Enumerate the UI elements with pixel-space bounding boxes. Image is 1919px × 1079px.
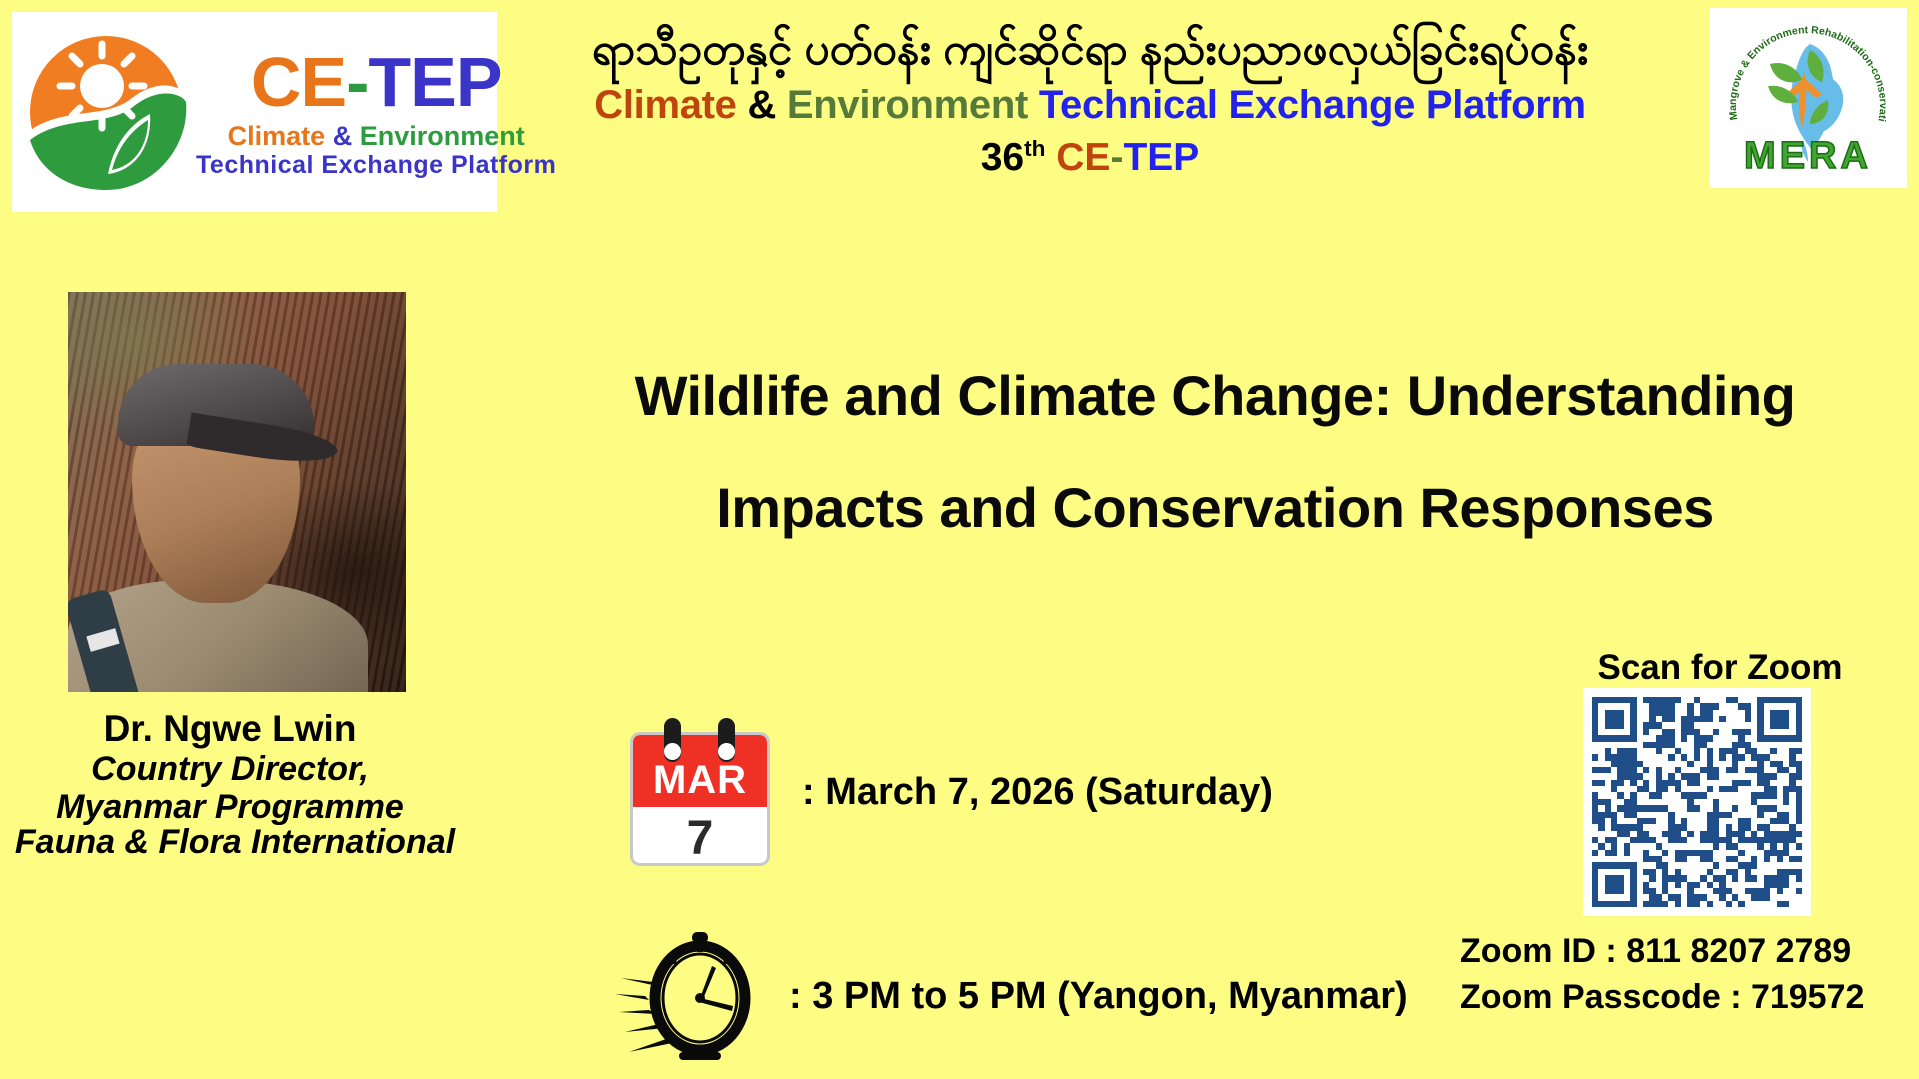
cetep-tagline-climate: Climate: [228, 121, 326, 151]
cetep-letters-tep: TEP: [368, 43, 501, 121]
talk-title-line2: Impacts and Conservation Responses: [520, 452, 1910, 564]
calendar-ring-hole-left: [664, 743, 681, 760]
calendar-month: MAR: [633, 735, 767, 807]
mera-logo-inner: Mangrove & Environment Rehabilitation-co…: [1718, 12, 1898, 184]
edition-number: 36: [981, 136, 1024, 179]
calendar-body: MAR 7: [630, 732, 770, 866]
edition-tep: TEP: [1123, 136, 1199, 179]
date-text: : March 7, 2026 (Saturday): [802, 771, 1273, 814]
edition-suffix: th: [1024, 136, 1045, 161]
english-title-platform: Technical Exchange Platform: [1028, 83, 1586, 127]
poster-canvas: CE-TEP Climate & Environment Technical E…: [0, 0, 1919, 1079]
mera-logo: Mangrove & Environment Rehabilitation-co…: [1709, 8, 1907, 188]
edition-dash: -: [1110, 136, 1123, 179]
mera-wordmark: MERA: [1718, 135, 1898, 178]
english-title-climate: Climate: [594, 83, 736, 127]
speaker-role-line2: Myanmar Programme: [56, 788, 404, 826]
zoom-passcode: Zoom Passcode : 719572: [1460, 978, 1910, 1017]
burmese-title: ရာသီဥတုနှင့် ပတ်ဝန်း ကျင်ဆိုင်ရာ နည်းပညာ…: [500, 22, 1680, 77]
talk-title-line1: Wildlife and Climate Change: Understandi…: [520, 340, 1910, 452]
cetep-letters-ce: CE: [251, 43, 346, 121]
english-title: Climate & Environment Technical Exchange…: [500, 83, 1680, 128]
cetep-logo-mark: [22, 28, 190, 196]
time-row: : 3 PM to 5 PM (Yangon, Myanmar): [615, 930, 1408, 1062]
cetep-logo: CE-TEP Climate & Environment Technical E…: [12, 12, 497, 212]
edition-ce: CE: [1056, 136, 1110, 179]
qr-code-grid: [1592, 697, 1802, 907]
speaker-name: Dr. Ngwe Lwin: [0, 708, 460, 750]
header-text-block: ရာသီဥတုနှင့် ပတ်ဝန်း ကျင်ဆိုင်ရာ နည်းပညာ…: [500, 22, 1680, 180]
zoom-id: Zoom ID : 811 8207 2789: [1460, 932, 1910, 971]
talk-title: Wildlife and Climate Change: Understandi…: [520, 340, 1910, 564]
zoom-qr-code[interactable]: [1583, 688, 1811, 916]
speaker-organization: Fauna & Flora International: [0, 823, 470, 862]
time-text: : 3 PM to 5 PM (Yangon, Myanmar): [789, 975, 1408, 1018]
cetep-dash: -: [346, 43, 368, 121]
speaker-role: Country Director,Myanmar Programme: [0, 750, 460, 826]
edition-line: 36th CE-TEP: [500, 136, 1680, 180]
english-title-amp: &: [737, 83, 787, 127]
speaker-photo: [68, 292, 406, 692]
english-title-environment: Environment: [787, 83, 1028, 127]
stopwatch-glyph: [615, 930, 775, 1062]
cetep-tagline-amp: &: [325, 121, 360, 151]
scan-for-zoom-label: Scan for Zoom: [1570, 648, 1870, 688]
stopwatch-icon: [615, 930, 775, 1062]
speaker-role-line1: Country Director,: [91, 750, 369, 788]
calendar-day: 7: [633, 807, 767, 866]
date-row: MAR 7 : March 7, 2026 (Saturday): [630, 718, 1273, 866]
sun-leaf-icon: [22, 28, 190, 196]
calendar-ring-hole-right: [718, 743, 735, 760]
calendar-icon: MAR 7: [630, 718, 770, 866]
